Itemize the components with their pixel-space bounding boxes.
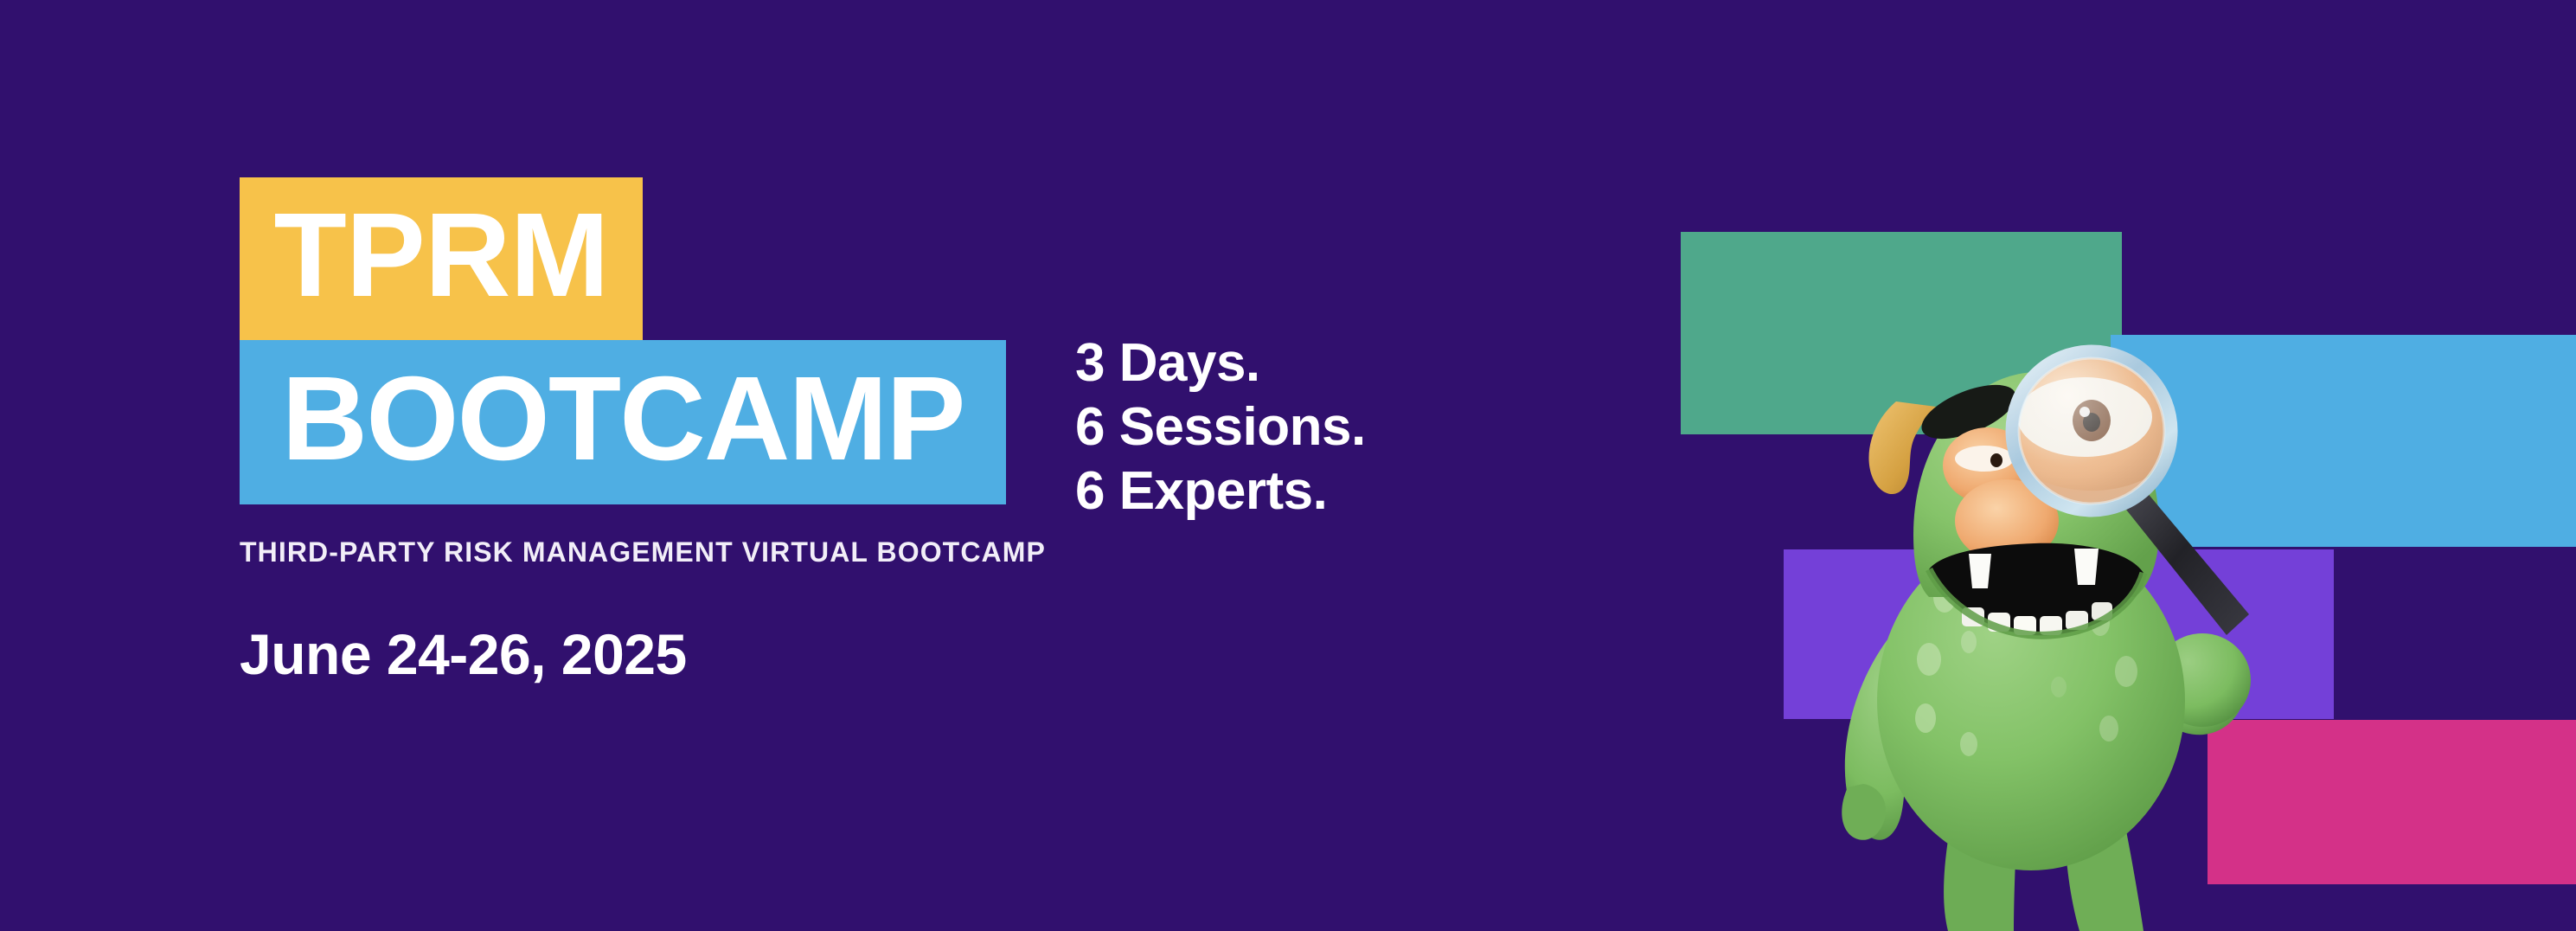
- logo-lockup: TPRM BOOTCAMP: [240, 177, 1018, 541]
- logo-bootcamp-text: BOOTCAMP: [282, 359, 964, 478]
- logo-tprm-text: TPRM: [274, 196, 609, 315]
- tprm-bootcamp-banner: TPRM BOOTCAMP THIRD-PARTY RISK MANAGEMEN…: [0, 0, 2576, 931]
- stat-sessions: 6 Sessions.: [1075, 395, 1366, 459]
- logo-bootcamp-block: BOOTCAMP: [240, 340, 1006, 504]
- green-monster-mascot-icon: [1799, 337, 2284, 931]
- stat-experts: 6 Experts.: [1075, 459, 1366, 523]
- stats-list: 3 Days. 6 Sessions. 6 Experts.: [1075, 331, 1366, 523]
- event-date: June 24-26, 2025: [240, 621, 687, 687]
- mascot-head: [1868, 351, 2249, 635]
- right-fang: [2074, 549, 2099, 585]
- logo-tprm-block: TPRM: [240, 177, 643, 340]
- tagline: THIRD-PARTY RISK MANAGEMENT VIRTUAL BOOT…: [240, 536, 1046, 568]
- stat-days: 3 Days.: [1075, 331, 1366, 395]
- left-fang: [1969, 554, 1991, 588]
